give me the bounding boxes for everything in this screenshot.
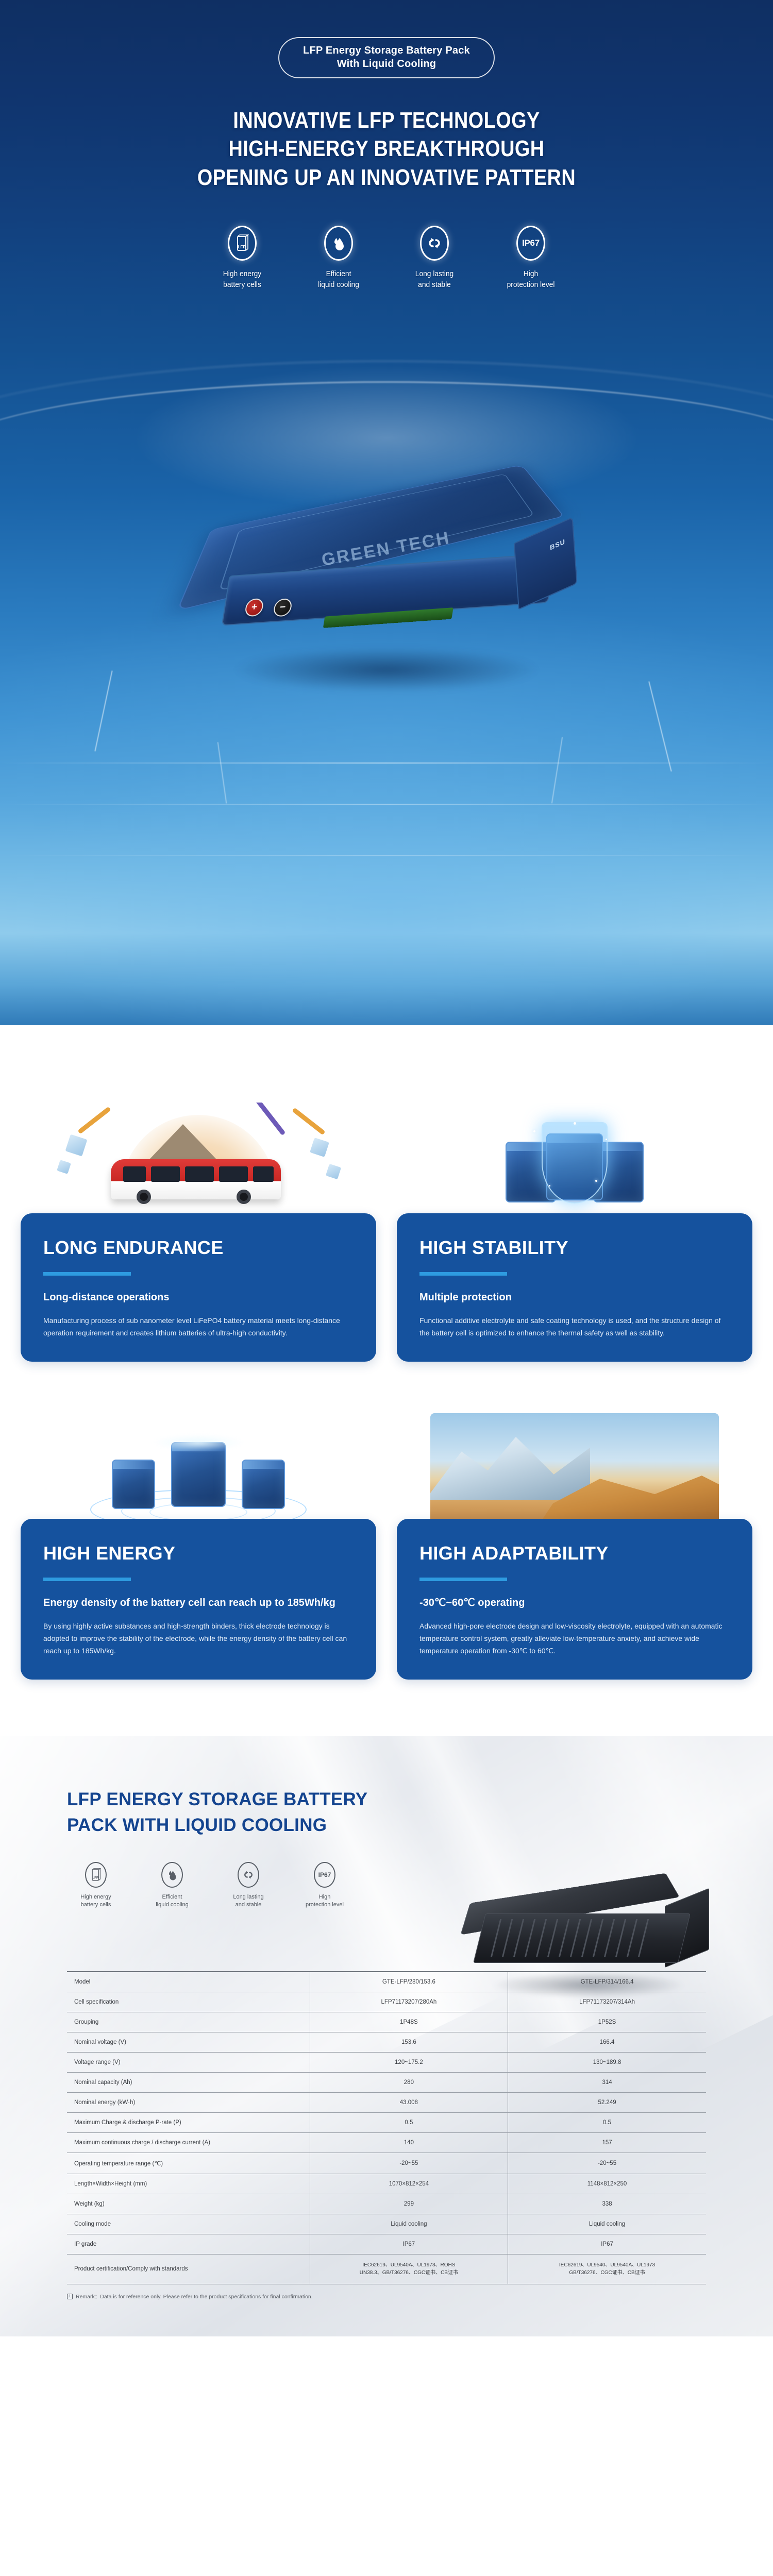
hero-feature-caption: Long lasting and stable [401, 269, 468, 290]
svg-text:LFP: LFP [92, 1876, 98, 1879]
lightning-bolt-4 [551, 737, 563, 804]
badge-line-2: With Liquid Cooling [284, 57, 489, 71]
ip67-rating-icon: IP67 [314, 1862, 335, 1888]
energy-beam [134, 1431, 263, 1454]
info-note-icon: i [67, 2294, 73, 2299]
cert-line-1: IEC62619、UL9540、UL9540A、UL1973 [515, 2261, 699, 2269]
spec-label: IP grade [67, 2234, 310, 2254]
hero-feature-caption: High protection level [498, 269, 564, 290]
specifications-section: LFP ENERGY STORAGE BATTERY PACK WITH LIQ… [0, 1736, 773, 2336]
table-row: Nominal voltage (V) 153.6 166.4 [67, 2032, 706, 2052]
snow-mountain-desert-illustration [397, 1408, 752, 1537]
spec-value-b: 52.249 [508, 2092, 706, 2112]
feature-card-high-adaptability: HIGH ADAPTABILITY -30℃~60℃ operating Adv… [397, 1408, 752, 1680]
recycle-loop-icon [238, 1862, 259, 1888]
positive-terminal: + [244, 598, 264, 617]
spec-label: Model [67, 1972, 310, 1992]
cert-line-1: IEC62619、UL9540A、UL1973、ROHS [317, 2261, 500, 2269]
recycle-loop-icon [420, 226, 449, 261]
table-row: Cell specification LFP71173207/280Ah LFP… [67, 1992, 706, 2012]
spec-value-a: 299 [310, 2194, 508, 2214]
product-front-face [473, 1913, 691, 1963]
spec-value-a: GTE-LFP/280/153.6 [310, 1972, 508, 1992]
feature-subtitle: Energy density of the battery cell can r… [43, 1596, 354, 1611]
decor-dash-3 [253, 1103, 286, 1136]
cooling-fin [547, 1919, 558, 1957]
spec-value-a: -20~55 [310, 2153, 508, 2174]
hero-battery-pack-render: GREEN TECH + − BSU [113, 433, 660, 721]
pack-side-label: BSU [550, 537, 566, 552]
spark [533, 1130, 535, 1132]
spec-value-b: 157 [508, 2132, 706, 2153]
spec-label: Nominal capacity (Ah) [67, 2072, 310, 2092]
cooling-fin [525, 1919, 535, 1957]
bus-wheel [137, 1190, 151, 1204]
spec-label: Cooling mode [67, 2214, 310, 2234]
crystal-2 [57, 1160, 71, 1174]
feature-cards-section: LONG ENDURANCE Long-distance operations … [0, 1025, 773, 1736]
ip67-rating-icon: IP67 [516, 226, 545, 261]
battery-pack: GREEN TECH + − BSU [184, 450, 588, 663]
caption-line-1: Efficient [143, 1893, 201, 1901]
spec-value-a: 0.5 [310, 2112, 508, 2132]
accent-bar [43, 1272, 131, 1276]
spec-value-b: Liquid cooling [508, 2214, 706, 2234]
bus-wheel [237, 1190, 251, 1204]
feature-card-body: HIGH ENERGY Energy density of the batter… [21, 1519, 376, 1680]
specs-feature-liquid-cooling: Efficient liquid cooling [143, 1862, 201, 1909]
table-row: Maximum continuous charge / discharge cu… [67, 2132, 706, 2153]
headline-line-2: HIGH-ENERGY BREAKTHROUGH [54, 134, 719, 163]
water-droplet-icon [324, 226, 353, 261]
table-row: Nominal capacity (Ah) 280 314 [67, 2072, 706, 2092]
pack-side-face: BSU [514, 517, 578, 610]
cooling-fin [559, 1919, 569, 1957]
caption-line-2: battery cells [209, 280, 276, 290]
specs-heading-line-1: LFP ENERGY STORAGE BATTERY [67, 1787, 706, 1812]
table-row: Voltage range (V) 120~175.2 130~189.8 [67, 2052, 706, 2072]
electric-bus-illustration [21, 1103, 376, 1231]
spec-value-a: 140 [310, 2132, 508, 2153]
specs-feature-high-energy: LFP High energy battery cells [67, 1862, 125, 1909]
spec-value-b: IP67 [508, 2234, 706, 2254]
feature-subtitle: -30℃~60℃ operating [419, 1596, 730, 1611]
caption-line-1: High energy [67, 1893, 125, 1901]
remark-text: Remark：Data is for reference only. Pleas… [76, 2293, 313, 2300]
bus-window [123, 1166, 146, 1182]
water-wave-3 [0, 855, 773, 856]
table-remark: i Remark：Data is for reference only. Ple… [67, 2293, 706, 2300]
specs-feature-long-lasting: Long lasting and stable [220, 1862, 277, 1909]
water-droplet-icon [161, 1862, 183, 1888]
spec-label: Maximum Charge & discharge P-rate (P) [67, 2112, 310, 2132]
spec-label: Grouping [67, 2012, 310, 2032]
decor-dash-2 [292, 1108, 325, 1136]
hero-feature-caption: High energy battery cells [209, 269, 276, 290]
spec-value-b: GTE-LFP/314/166.4 [508, 1972, 706, 1992]
lightning-bolt-3 [217, 742, 227, 803]
accent-bar [43, 1578, 131, 1581]
bus-window [151, 1166, 180, 1182]
spec-label: Product certification/Comply with standa… [67, 2254, 310, 2284]
spec-value-a: 280 [310, 2072, 508, 2092]
table-row: Model GTE-LFP/280/153.6 GTE-LFP/314/166.… [67, 1972, 706, 1992]
energy-modules-ripple-illustration [21, 1408, 376, 1537]
product-badge: LFP Energy Storage Battery Pack With Liq… [278, 37, 495, 78]
caption-line-2: and stable [220, 1901, 277, 1909]
cooling-fin [604, 1919, 615, 1957]
specs-heading: LFP ENERGY STORAGE BATTERY PACK WITH LIQ… [67, 1787, 706, 1838]
spec-value-a: 153.6 [310, 2032, 508, 2052]
spec-value-b: LFP71173207/314Ah [508, 1992, 706, 2012]
crystal-4 [326, 1164, 341, 1179]
spec-value-b: 1P52S [508, 2012, 706, 2032]
hero-feature-protection: IP67 High protection level [495, 226, 567, 290]
lfp-battery-cell-icon: LFP [85, 1862, 107, 1888]
cooling-fin [570, 1919, 581, 1957]
caption-line-1: High energy [209, 269, 276, 279]
spec-value-a: IEC62619、UL9540A、UL1973、ROHS UN38.3、GB/T… [310, 2254, 508, 2284]
feature-subtitle: Multiple protection [419, 1290, 730, 1305]
specs-heading-line-2: PACK WITH LIQUID COOLING [67, 1812, 706, 1838]
spark [574, 1122, 576, 1125]
badge-line-1: LFP Energy Storage Battery Pack [284, 44, 489, 57]
caption-line-2: liquid cooling [143, 1901, 201, 1909]
cooling-fin [491, 1919, 501, 1957]
cert-line-2: GB/T36276、CGC证书、CB证书 [515, 2269, 699, 2277]
spec-value-b: 130~189.8 [508, 2052, 706, 2072]
hero-feature-high-energy: LFP High energy battery cells [206, 226, 278, 290]
spark [549, 1185, 550, 1187]
spec-value-a: 120~175.2 [310, 2052, 508, 2072]
caption-line-1: Efficient [305, 269, 372, 279]
cooling-fin [513, 1919, 524, 1957]
feature-card-high-stability: HIGH STABILITY Multiple protection Funct… [397, 1103, 752, 1362]
table-row: Nominal energy (kW·h) 43.008 52.249 [67, 2092, 706, 2112]
specs-feature-caption: Long lasting and stable [220, 1893, 277, 1909]
spec-label: Nominal energy (kW·h) [67, 2092, 310, 2112]
specs-feature-protection: IP67 High protection level [296, 1862, 354, 1909]
spec-value-b: IEC62619、UL9540、UL9540A、UL1973 GB/T36276… [508, 2254, 706, 2284]
table-row-certification: Product certification/Comply with standa… [67, 2254, 706, 2284]
spec-value-a: Liquid cooling [310, 2214, 508, 2234]
spec-value-b: 1148×812×250 [508, 2174, 706, 2194]
crystal-1 [65, 1134, 88, 1157]
water-wave-1 [0, 762, 773, 764]
battery-module-right [242, 1460, 285, 1509]
caption-line-1: Long lasting [401, 269, 468, 279]
feature-card-body: HIGH STABILITY Multiple protection Funct… [397, 1213, 752, 1362]
table-body: Model GTE-LFP/280/153.6 GTE-LFP/314/166.… [67, 1972, 706, 2284]
caption-line-2: protection level [498, 280, 564, 290]
accent-bar [419, 1578, 507, 1581]
feature-card-long-endurance: LONG ENDURANCE Long-distance operations … [21, 1103, 376, 1362]
specifications-table: Model GTE-LFP/280/153.6 GTE-LFP/314/166.… [67, 1971, 706, 2284]
hero-feature-liquid-cooling: Efficient liquid cooling [303, 226, 375, 290]
feature-card-high-energy: HIGH ENERGY Energy density of the batter… [21, 1408, 376, 1680]
table-row: Operating temperature range (℃) -20~55 -… [67, 2153, 706, 2174]
hero-feature-long-lasting: Long lasting and stable [398, 226, 470, 290]
caption-line-2: and stable [401, 280, 468, 290]
feature-card-body: LONG ENDURANCE Long-distance operations … [21, 1213, 376, 1362]
spec-value-b: 338 [508, 2194, 706, 2214]
cooling-fin [627, 1919, 637, 1957]
spec-label: Maximum continuous charge / discharge cu… [67, 2132, 310, 2153]
water-wave-2 [0, 804, 773, 805]
specs-feature-caption: High energy battery cells [67, 1893, 125, 1909]
protection-shield-icon [542, 1122, 608, 1204]
specifications-table-wrapper: Model GTE-LFP/280/153.6 GTE-LFP/314/166.… [67, 1971, 706, 2284]
table-row: IP grade IP67 IP67 [67, 2234, 706, 2254]
bus-windshield [253, 1166, 274, 1182]
ip67-label: IP67 [522, 238, 540, 248]
spec-label: Length×Width×Height (mm) [67, 2174, 310, 2194]
spec-value-a: 1P48S [310, 2012, 508, 2032]
decor-dash-1 [77, 1107, 111, 1134]
hero-feature-icons: LFP High energy battery cells Efficient … [206, 226, 567, 290]
spec-value-b: 166.4 [508, 2032, 706, 2052]
spec-label: Voltage range (V) [67, 2052, 310, 2072]
electric-bus [111, 1159, 281, 1199]
ip67-label: IP67 [318, 1871, 331, 1878]
table-row: Maximum Charge & discharge P-rate (P) 0.… [67, 2112, 706, 2132]
specs-feature-caption: High protection level [296, 1893, 354, 1909]
bus-window [219, 1166, 248, 1182]
spark [606, 1139, 607, 1140]
spec-value-b: -20~55 [508, 2153, 706, 2174]
accent-bar [419, 1272, 507, 1276]
spark [595, 1180, 597, 1182]
snow-mountain [430, 1433, 590, 1500]
spec-value-a: LFP71173207/280Ah [310, 1992, 508, 2012]
headline-line-1: INNOVATIVE LFP TECHNOLOGY [54, 106, 719, 134]
negative-terminal: − [273, 598, 293, 617]
spec-label: Operating temperature range (℃) [67, 2153, 310, 2174]
hero-section: LFP Energy Storage Battery Pack With Liq… [0, 0, 773, 1025]
battery-module-left [112, 1460, 155, 1509]
caption-line-1: High [498, 269, 564, 279]
spec-label: Weight (kg) [67, 2194, 310, 2214]
spec-value-a: 43.008 [310, 2092, 508, 2112]
headline-line-3: OPENING UP AN INNOVATIVE PATTERN [54, 163, 719, 192]
cooling-fin [593, 1919, 603, 1957]
svg-text:LFP: LFP [238, 245, 246, 249]
cooling-fin [615, 1919, 626, 1957]
caption-line-2: liquid cooling [305, 280, 372, 290]
feature-title: HIGH STABILITY [419, 1237, 730, 1259]
crystal-3 [310, 1138, 329, 1157]
shield-battery-modules-illustration [397, 1103, 752, 1231]
feature-description: By using highly active substances and hi… [43, 1620, 354, 1657]
feature-title: LONG ENDURANCE [43, 1237, 354, 1259]
caption-line-2: battery cells [67, 1901, 125, 1909]
feature-title: HIGH ENERGY [43, 1543, 354, 1564]
cooling-fin [581, 1919, 592, 1957]
spec-label: Cell specification [67, 1992, 310, 2012]
table-row: Grouping 1P48S 1P52S [67, 2012, 706, 2032]
table-row: Weight (kg) 299 338 [67, 2194, 706, 2214]
table-row: Cooling mode Liquid cooling Liquid cooli… [67, 2214, 706, 2234]
table-row: Length×Width×Height (mm) 1070×812×254 11… [67, 2174, 706, 2194]
spec-value-b: 314 [508, 2072, 706, 2092]
spec-value-a: 1070×812×254 [310, 2174, 508, 2194]
feature-grid: LONG ENDURANCE Long-distance operations … [21, 1103, 752, 1680]
feature-title: HIGH ADAPTABILITY [419, 1543, 730, 1564]
caption-line-1: High [296, 1893, 354, 1901]
cert-line-2: UN38.3、GB/T36276、CGC证书、CB证书 [317, 2269, 500, 2277]
hero-feature-caption: Efficient liquid cooling [305, 269, 372, 290]
feature-description: Advanced high-pore electrode design and … [419, 1620, 730, 1657]
lightning-bolt-1 [94, 671, 112, 752]
spec-label: Nominal voltage (V) [67, 2032, 310, 2052]
hero-headline: INNOVATIVE LFP TECHNOLOGY HIGH-ENERGY BR… [54, 106, 719, 192]
lfp-battery-cell-icon: LFP [228, 226, 257, 261]
caption-line-2: protection level [296, 1901, 354, 1909]
feature-description: Functional additive electrolyte and safe… [419, 1314, 730, 1339]
cooling-fin [502, 1919, 513, 1957]
cooling-fin [536, 1919, 547, 1957]
specs-feature-caption: Efficient liquid cooling [143, 1893, 201, 1909]
caption-line-1: Long lasting [220, 1893, 277, 1901]
feature-card-body: HIGH ADAPTABILITY -30℃~60℃ operating Adv… [397, 1519, 752, 1680]
spec-value-b: 0.5 [508, 2112, 706, 2132]
spec-value-a: IP67 [310, 2234, 508, 2254]
feature-description: Manufacturing process of sub nanometer l… [43, 1314, 354, 1339]
cooling-fin [638, 1919, 649, 1957]
bus-window [185, 1166, 214, 1182]
feature-subtitle: Long-distance operations [43, 1290, 354, 1305]
